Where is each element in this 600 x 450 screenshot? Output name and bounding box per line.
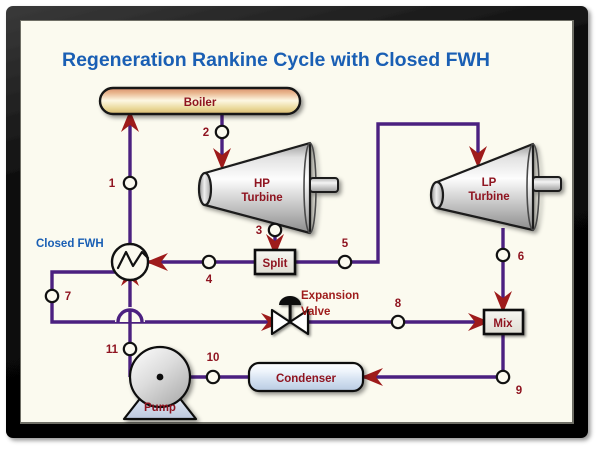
state-node-8[interactable] xyxy=(392,316,404,328)
hp-turbine-label-line1: HP xyxy=(254,178,270,190)
closed-fwh[interactable] xyxy=(112,244,148,280)
state-node-4[interactable] xyxy=(203,256,215,268)
mix-label: Mix xyxy=(493,318,513,330)
boiler-label: Boiler xyxy=(184,97,217,109)
page-title: Regeneration Rankine Cycle with Closed F… xyxy=(62,49,490,71)
state-node-10[interactable] xyxy=(207,371,219,383)
state-label-11: 11 xyxy=(106,344,119,356)
state-label-10: 10 xyxy=(207,352,220,364)
split-label: Split xyxy=(263,258,288,270)
state-node-2[interactable] xyxy=(216,126,228,138)
lp-turbine-label-line1: LP xyxy=(482,177,497,189)
state-node-3[interactable] xyxy=(269,224,281,236)
expansion-valve-label-line2: Valve xyxy=(301,306,330,318)
state-node-7[interactable] xyxy=(46,290,58,302)
state-node-11[interactable] xyxy=(124,343,136,355)
state-node-9[interactable] xyxy=(497,371,509,383)
closed-fwh-label: Closed FWH xyxy=(36,238,104,250)
state-label-5: 5 xyxy=(342,238,349,250)
state-node-5[interactable] xyxy=(339,256,351,268)
pipe-crossover-hop xyxy=(118,310,142,323)
diagram-canvas: Regeneration Rankine Cycle with Closed F… xyxy=(0,0,600,450)
lp-turbine-label-line2: Turbine xyxy=(468,191,509,203)
state-label-8: 8 xyxy=(395,298,402,310)
state-label-6: 6 xyxy=(518,251,524,263)
rankine-cycle-diagram: Regeneration Rankine Cycle with Closed F… xyxy=(0,0,600,450)
expansion-valve-label-line1: Expansion xyxy=(301,290,359,302)
pump-label: Pump xyxy=(144,402,176,414)
state-node-6[interactable] xyxy=(497,249,509,261)
state-label-3: 3 xyxy=(256,225,262,237)
state-label-4: 4 xyxy=(206,274,213,286)
state-label-2: 2 xyxy=(203,127,209,139)
state-label-7: 7 xyxy=(65,291,71,303)
state-node-1[interactable] xyxy=(124,177,136,189)
state-label-1: 1 xyxy=(109,178,116,190)
state-label-9: 9 xyxy=(516,385,522,397)
hp-turbine-label-line2: Turbine xyxy=(241,192,282,204)
condenser-label: Condenser xyxy=(276,373,337,385)
